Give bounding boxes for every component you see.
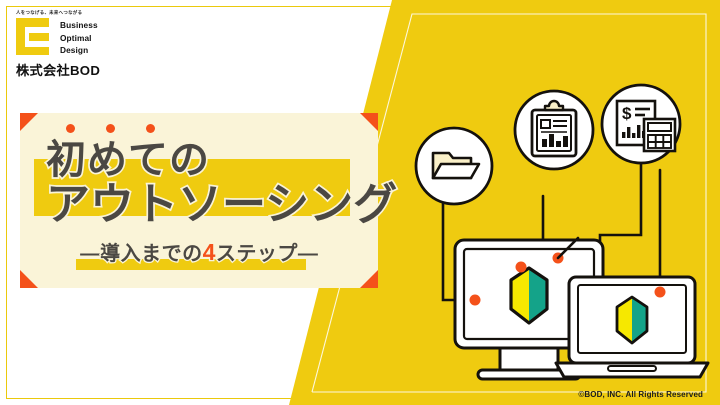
brand-word-design: Design — [60, 44, 98, 56]
svg-text:$: $ — [622, 104, 632, 123]
headline-dot-3 — [146, 124, 155, 133]
brand-logo[interactable]: 人をつなげる、未来へつながる Business Optimal Design 株… — [16, 11, 100, 79]
headline-line-2: アウトソーシング — [46, 183, 397, 227]
clipboard-report-icon — [515, 91, 593, 169]
connector-invoice — [600, 162, 641, 265]
brand-word-business: Business — [60, 19, 98, 31]
shoshinsha-mark-overlay — [511, 268, 547, 323]
headline-line-1: 初めての — [46, 140, 210, 180]
banner-canvas: 人をつなげる、未来へつながる Business Optimal Design 株… — [0, 0, 720, 405]
subtitle-suffix: ステップ — [216, 243, 298, 265]
bod-b-logo-icon — [16, 18, 53, 55]
brand-word-optimal: Optimal — [60, 32, 98, 44]
headline-dot-2 — [106, 124, 115, 133]
copyright-text: ©BOD, INC. All Rights Reserved — [578, 390, 703, 399]
connector-node-1 — [470, 295, 481, 306]
subtitle-prefix: 導入までの — [100, 243, 203, 265]
connector-node-4 — [655, 287, 666, 298]
headline-dot-1 — [66, 124, 75, 133]
subtitle-step-number: 4 — [203, 239, 216, 265]
brand-tagline: 人をつなげる、未来へつながる — [16, 11, 100, 15]
brand-words: Business Optimal Design — [60, 18, 98, 56]
brand-company-name: 株式会社BOD — [16, 60, 100, 79]
headline-dots — [66, 124, 155, 133]
headline-card: 初めての アウトソーシング —導入までの4ステップ— — [20, 113, 378, 288]
headline-subtitle: —導入までの4ステップ— — [36, 241, 362, 264]
invoice-calculator-icon: $ — [602, 85, 680, 163]
shoshinsha-mark-icon-laptop — [617, 297, 647, 343]
laptop — [556, 277, 708, 377]
subtitle-dash-left: — — [80, 243, 100, 265]
folder-icon — [416, 128, 492, 204]
connector-node-2 — [516, 262, 527, 273]
subtitle-dash-right: — — [298, 243, 318, 265]
